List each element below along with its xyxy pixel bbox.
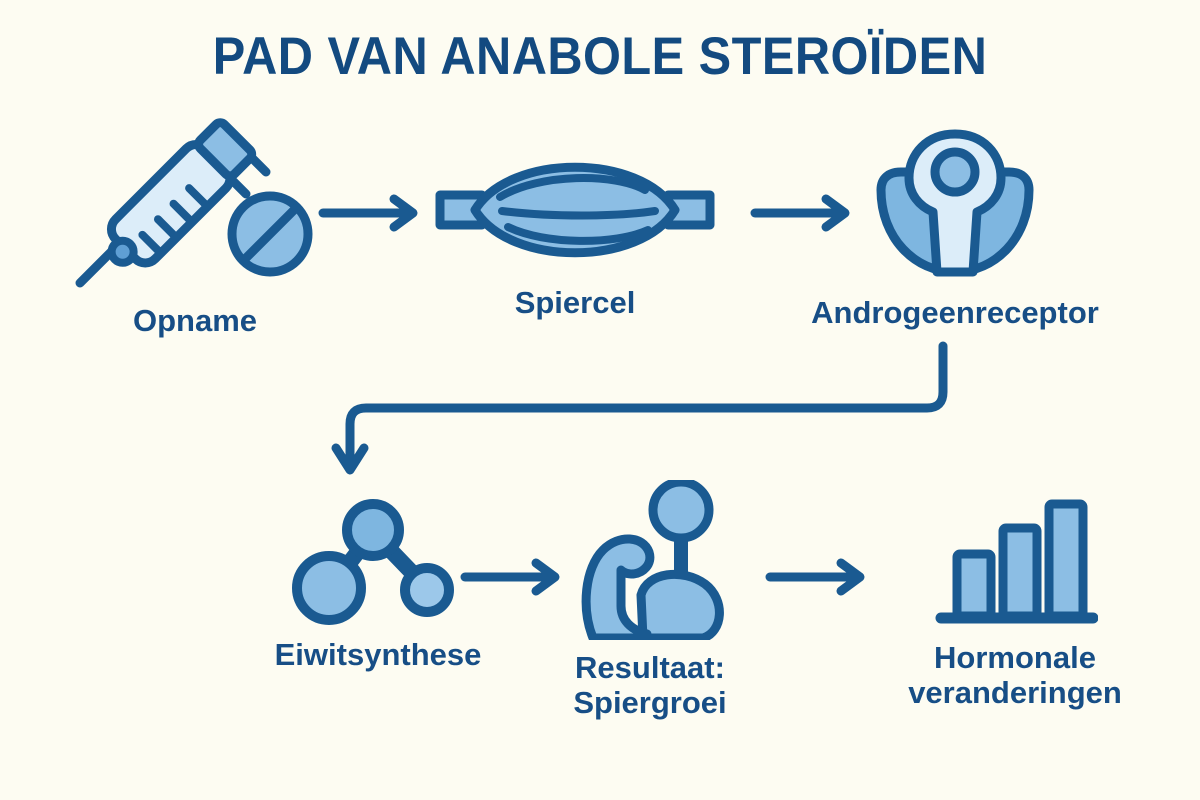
protein-molecule-icon [291, 492, 466, 632]
syringe-and-pill-icon [70, 118, 320, 298]
connector-arrow-intake-to-musclecell [318, 188, 428, 238]
step-node-hormonal: Hormonale veranderingen [880, 490, 1150, 710]
step-label-intake: Opname [133, 304, 257, 339]
muscle-cell-icon [430, 145, 720, 280]
bar-chart-icon [933, 490, 1098, 635]
connector-arrow-receptor-to-protein [330, 340, 990, 490]
step-node-musclecell: Spiercel [430, 145, 720, 321]
step-node-intake: Opname [60, 118, 330, 339]
connector-arrow-protein-to-result [460, 552, 570, 602]
step-label-receptor: Androgeenreceptor [811, 296, 1099, 331]
connector-arrow-result-to-hormonal [765, 552, 875, 602]
step-node-result: Resultaat: Spiergroei [545, 480, 755, 720]
androgen-receptor-icon [865, 120, 1045, 290]
step-label-musclecell: Spiercel [515, 286, 636, 321]
infographic-canvas: PAD VAN ANABOLE STEROÏDEN [0, 0, 1200, 800]
page-title: PAD VAN ANABOLE STEROÏDEN [48, 26, 1152, 87]
step-label-protein: Eiwitsynthese [275, 638, 482, 673]
flexed-bicep-icon [563, 480, 738, 645]
step-label-hormonal: Hormonale veranderingen [908, 641, 1122, 710]
step-label-result: Resultaat: Spiergroei [573, 651, 726, 720]
connector-arrow-musclecell-to-receptor [750, 188, 860, 238]
